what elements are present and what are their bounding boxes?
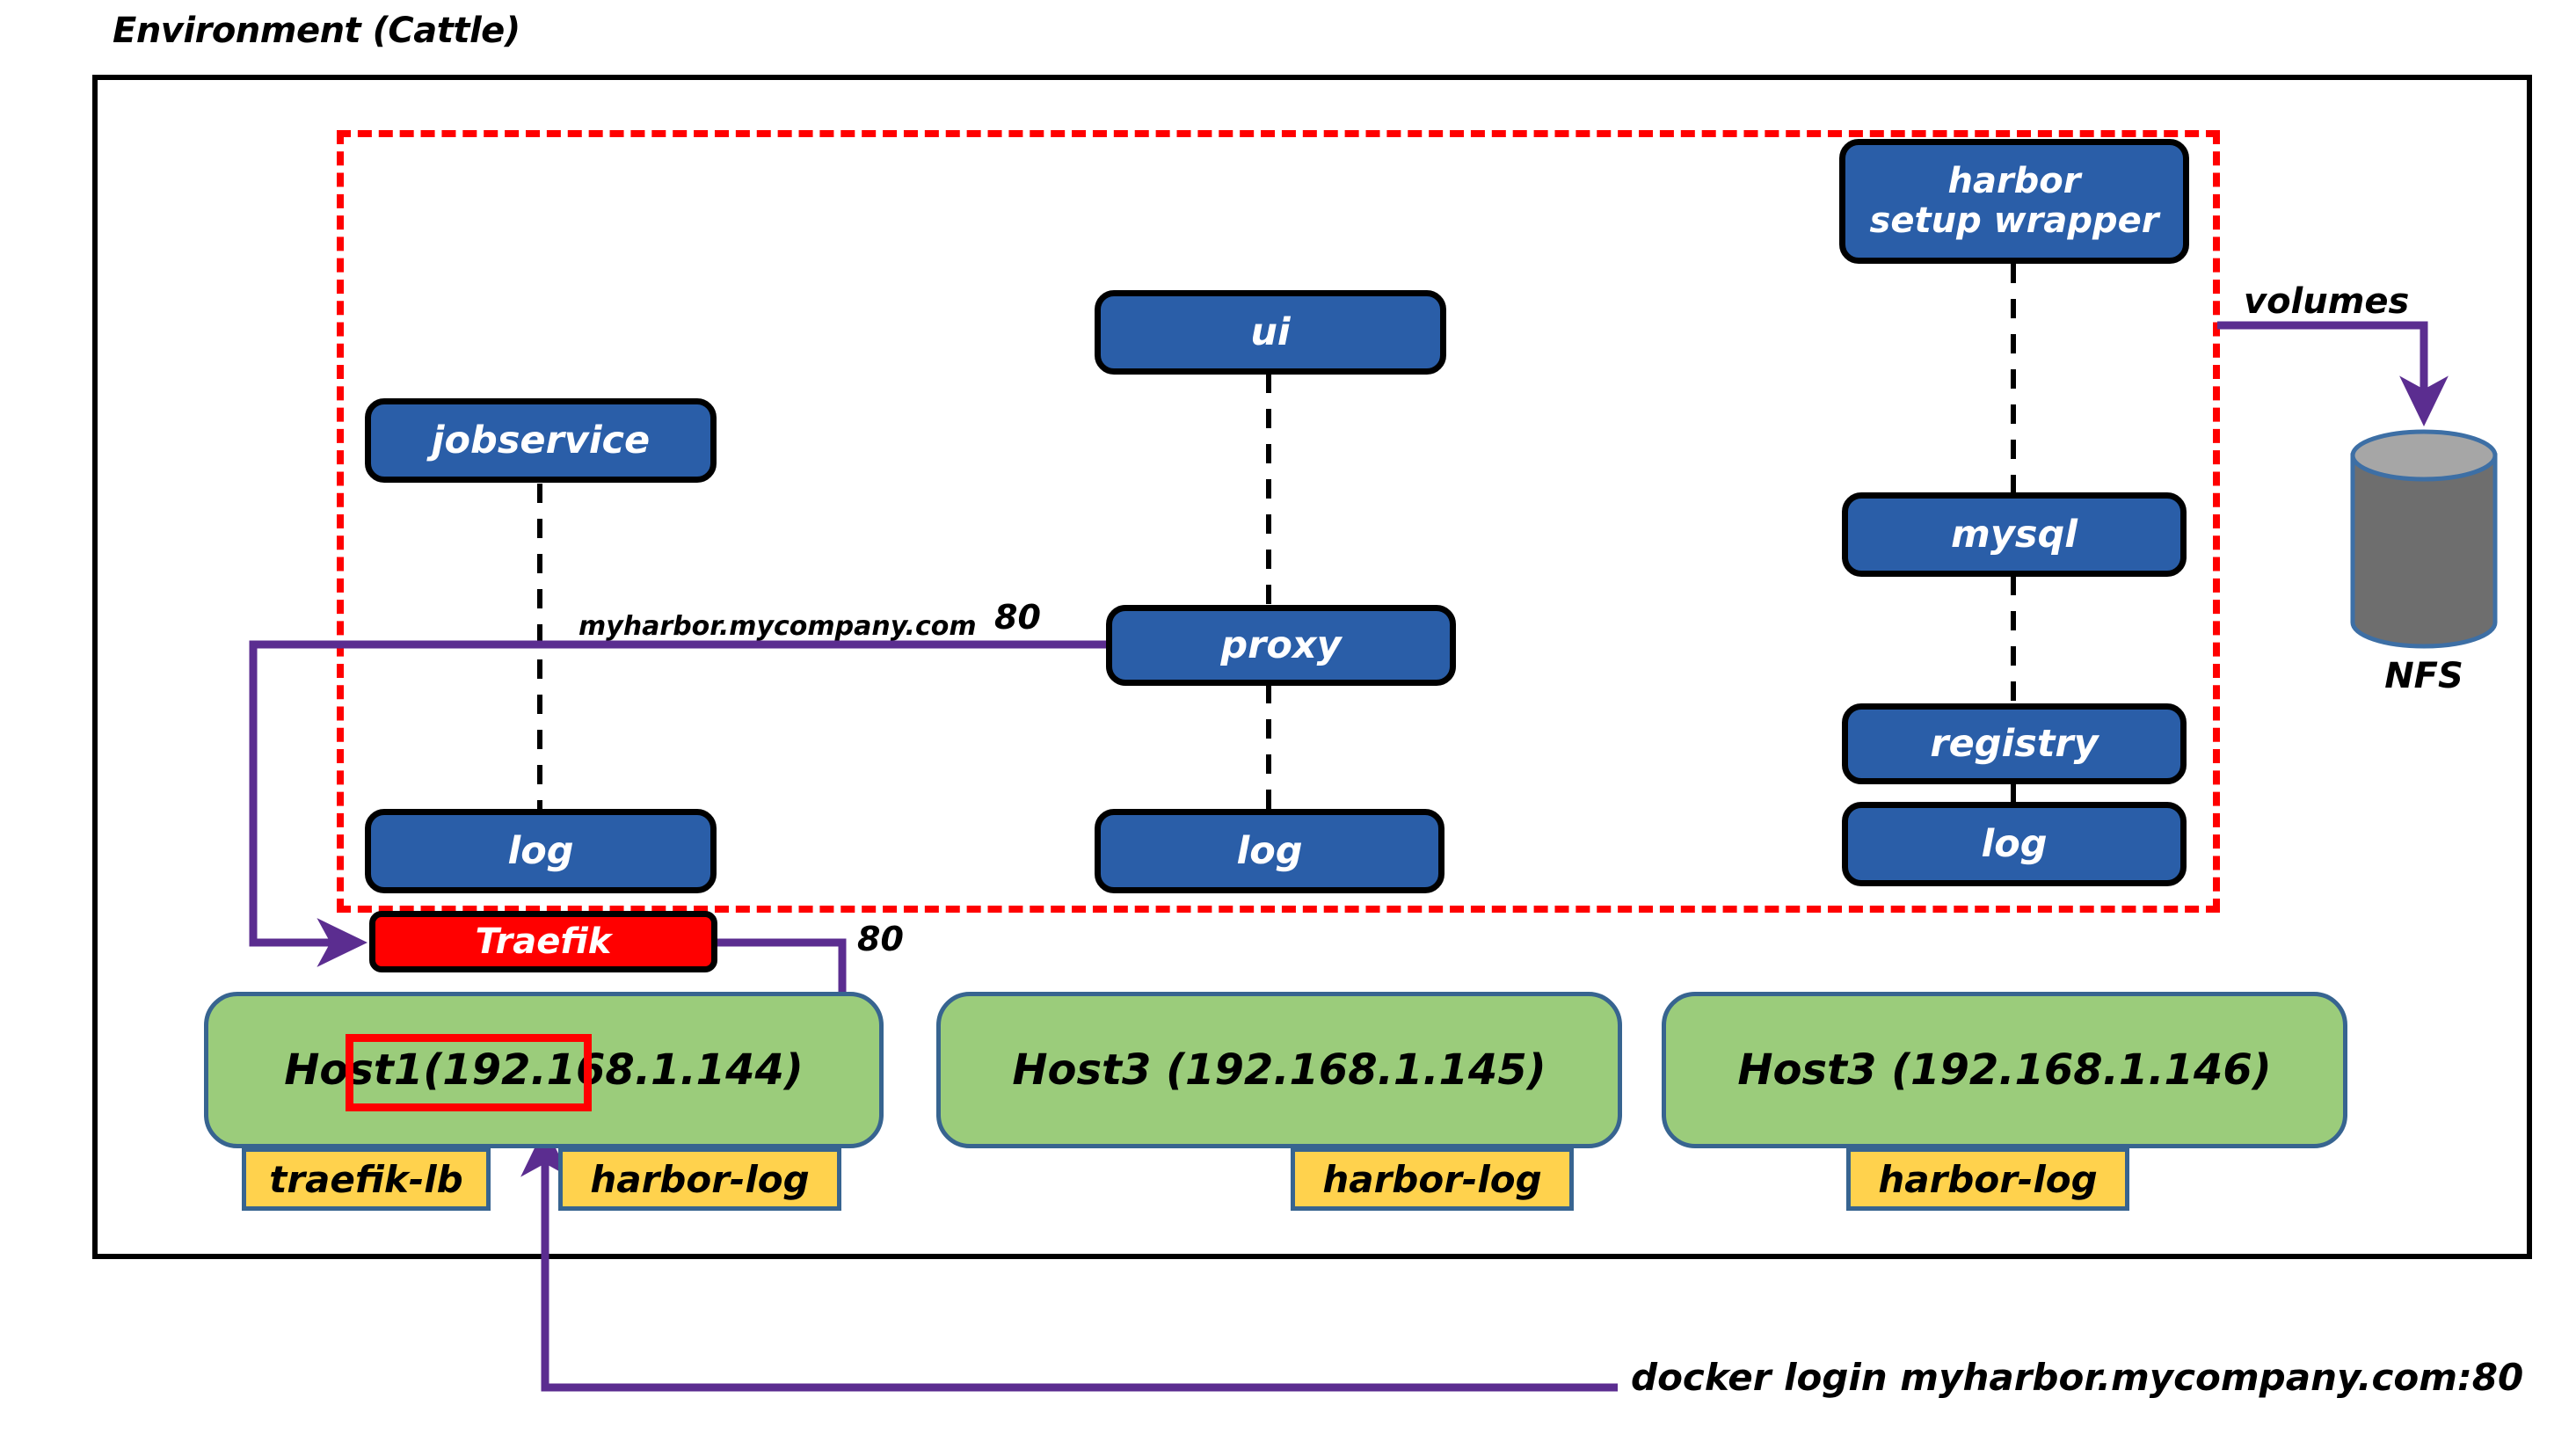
stack-tab-traefik-lb[interactable]: traefik-lb [242, 1147, 491, 1211]
node-mysql[interactable]: mysql [1842, 492, 2187, 577]
node-proxy[interactable]: proxy [1106, 605, 1456, 686]
host-card-host2[interactable]: Host3 (192.168.1.145) [936, 992, 1622, 1148]
diagram-canvas: Environment (Cattle) jobservice [0, 0, 2576, 1449]
node-ui[interactable]: ui [1095, 290, 1446, 375]
node-log-right[interactable]: log [1842, 802, 2187, 886]
node-registry[interactable]: registry [1842, 703, 2187, 784]
host-card-host1[interactable]: Host1 (192.168.1.144) [204, 992, 884, 1148]
node-jobservice[interactable]: jobservice [365, 398, 717, 483]
node-log-middle[interactable]: log [1095, 809, 1444, 893]
stack-tab-harbor-log-host3[interactable]: harbor-log [1846, 1147, 2129, 1211]
port-label-proxy: 80 [994, 598, 1041, 637]
host1-ip: (192.168.1.144) [423, 1045, 804, 1095]
docker-login-annotation: docker login myharbor.mycompany.com:80 [1631, 1356, 2523, 1399]
node-traefik[interactable]: Traefik [369, 911, 717, 972]
stack-tab-harbor-log-host2[interactable]: harbor-log [1291, 1147, 1574, 1211]
nfs-label: NFS [2349, 656, 2499, 696]
stack-tab-harbor-log-host1[interactable]: harbor-log [558, 1147, 841, 1211]
host-card-host3[interactable]: Host3 (192.168.1.146) [1662, 992, 2347, 1148]
node-log-left[interactable]: log [365, 809, 717, 893]
environment-title: Environment (Cattle) [113, 11, 520, 51]
nfs-cylinder-icon [2349, 429, 2499, 649]
domain-annotation: myharbor.mycompany.com [579, 611, 977, 642]
volumes-annotation: volumes [2244, 281, 2409, 322]
host1-name: Host1 [284, 1045, 423, 1095]
port-label-traefik: 80 [857, 920, 904, 958]
node-harbor-setup-wrapper[interactable]: harbor setup wrapper [1839, 139, 2189, 264]
